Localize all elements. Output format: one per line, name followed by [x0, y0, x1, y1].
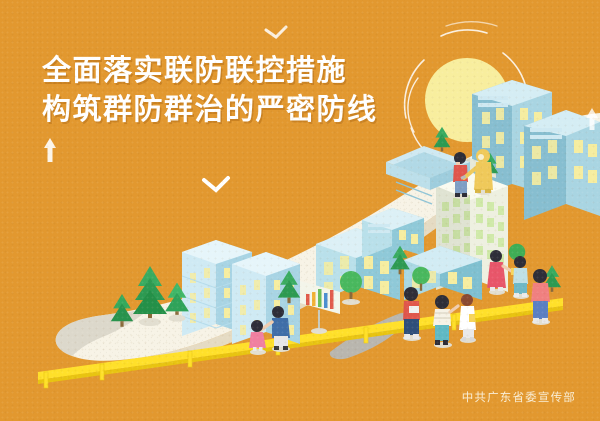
poster-credit: 中共广东省委宣传部	[462, 389, 576, 405]
person-white-coat	[459, 294, 476, 343]
chevron-mark-middle	[204, 178, 228, 190]
poster-canvas: 全面落实联防联控措施 构筑群防群治的严密防线 中共广东省委宣传部	[0, 0, 600, 421]
billboard-post	[318, 310, 320, 330]
person-teal-shirt	[513, 256, 529, 299]
arrow-mark-left	[44, 138, 56, 162]
office-tower-right-wide	[524, 110, 600, 220]
poster-headline: 全面落实联防联控措施 构筑群防群治的严密防线	[42, 52, 378, 130]
person-pink-shirt	[531, 269, 550, 325]
chevron-mark-top	[266, 27, 286, 37]
headline-line-1: 全面落实联防联控措施	[42, 52, 378, 91]
person-dark-blue	[403, 287, 421, 341]
headline-line-2: 构筑群防群治的严密防线	[42, 91, 378, 130]
